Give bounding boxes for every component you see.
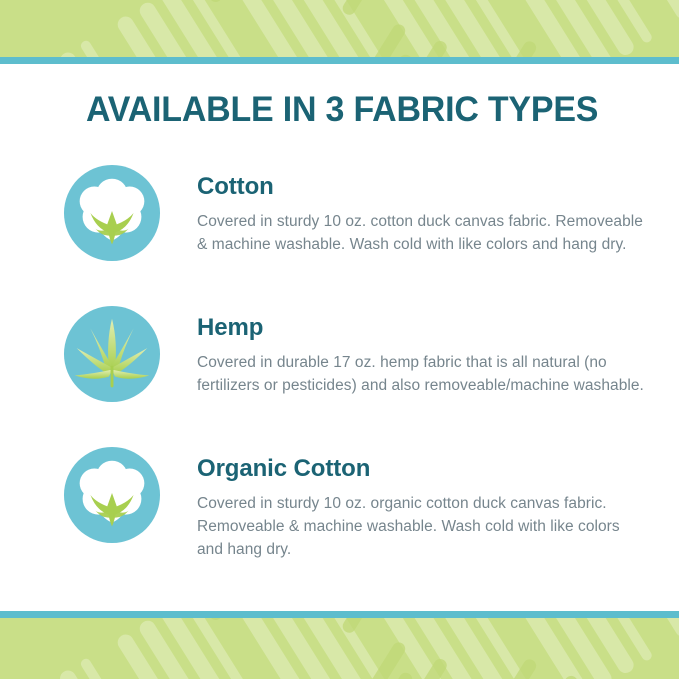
list-item: Cotton Covered in sturdy 10 oz. cotton d… bbox=[0, 164, 679, 262]
fabric-types-infographic: AVAILABLE IN 3 FABRIC TYPES bbox=[0, 0, 679, 679]
bottom-band-pattern-icon bbox=[0, 618, 679, 679]
cotton-boll-icon bbox=[63, 164, 161, 262]
bottom-decorative-band bbox=[0, 618, 679, 679]
fabric-text-block: Hemp Covered in durable 17 oz. hemp fabr… bbox=[161, 305, 679, 397]
top-band-pattern-icon bbox=[0, 0, 679, 57]
list-item: Organic Cotton Covered in sturdy 10 oz. … bbox=[0, 446, 679, 561]
fabric-text-block: Organic Cotton Covered in sturdy 10 oz. … bbox=[161, 446, 679, 561]
bottom-accent-rule bbox=[0, 611, 679, 618]
fabric-text-block: Cotton Covered in sturdy 10 oz. cotton d… bbox=[161, 164, 679, 256]
fabric-title: Cotton bbox=[197, 173, 649, 200]
list-item: Hemp Covered in durable 17 oz. hemp fabr… bbox=[0, 305, 679, 403]
fabric-description: Covered in durable 17 oz. hemp fabric th… bbox=[197, 351, 649, 397]
cotton-boll-icon bbox=[63, 446, 161, 544]
fabric-description: Covered in sturdy 10 oz. cotton duck can… bbox=[197, 210, 649, 256]
top-decorative-band bbox=[0, 0, 679, 57]
fabric-title: Hemp bbox=[197, 314, 649, 341]
top-accent-rule bbox=[0, 57, 679, 64]
fabric-title: Organic Cotton bbox=[197, 455, 649, 482]
hemp-leaf-icon bbox=[63, 305, 161, 403]
page-title: AVAILABLE IN 3 FABRIC TYPES bbox=[86, 90, 598, 130]
fabric-description: Covered in sturdy 10 oz. organic cotton … bbox=[197, 492, 649, 561]
fabric-list: Cotton Covered in sturdy 10 oz. cotton d… bbox=[0, 164, 679, 561]
